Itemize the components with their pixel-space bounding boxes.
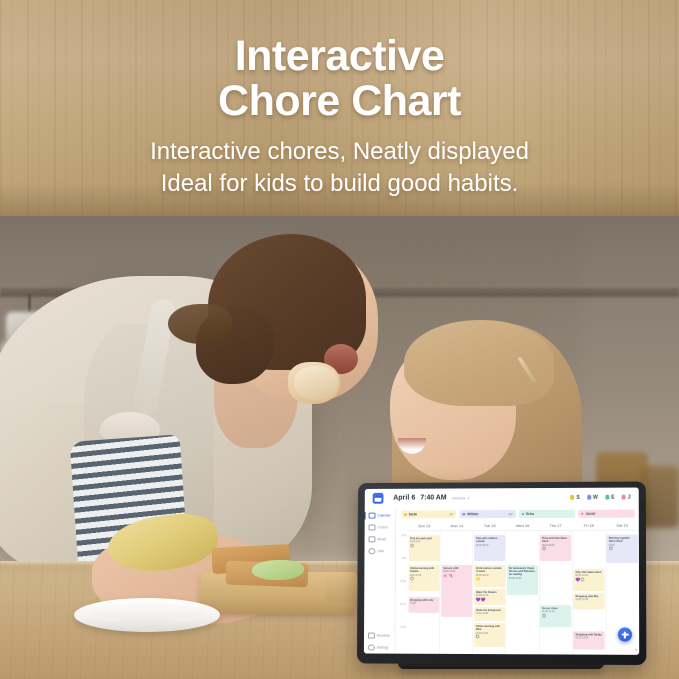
current-time: 7:40 AM bbox=[420, 494, 446, 501]
member-dot-icon bbox=[622, 495, 626, 499]
day-column[interactable]: Pizza and time taken wash08:00 09:00😊Soc… bbox=[540, 531, 573, 655]
member-chip-name: Echo bbox=[526, 512, 534, 516]
day-header[interactable]: Mon 14 bbox=[440, 523, 473, 528]
event-time: 11:00 12:00 bbox=[542, 611, 570, 614]
day-column[interactable]: Play with children outside08:00 09:00Dri… bbox=[473, 531, 506, 654]
kitchen-hook bbox=[28, 294, 31, 312]
calendar-event[interactable]: Online learning with Sophie9:00 10:00😊 bbox=[408, 565, 439, 591]
app-body: Calendar Chores Meals Lists bbox=[364, 507, 639, 655]
member-avatar-s[interactable]: S bbox=[570, 494, 580, 500]
day-column[interactable]: Pick the park yard8:00 9:00😊Online learn… bbox=[407, 531, 440, 654]
page-title-line-2: Chore Chart bbox=[0, 79, 679, 124]
member-dot-icon bbox=[581, 512, 584, 515]
day-header-row: Sun 13 Mon 14 Tue 15 Wed 16 Thu 17 Fri 1… bbox=[396, 520, 639, 531]
event-emoji-icon: 😊 bbox=[476, 635, 503, 639]
sidebar-item-lists[interactable]: Lists bbox=[364, 545, 395, 557]
app-sidebar: Calendar Chores Meals Lists bbox=[364, 508, 396, 654]
sidebar-item-rewards[interactable]: Rewards bbox=[364, 630, 395, 642]
event-time: 12:00 13:00 bbox=[575, 637, 603, 640]
calendar-event[interactable]: Play with children outside08:00 09:00 bbox=[474, 535, 505, 561]
event-emoji-icon: 💜😊 bbox=[575, 578, 603, 582]
sidebar-item-label: Meals bbox=[377, 537, 386, 541]
event-time: 08:00 09:00 bbox=[476, 544, 503, 547]
event-emoji-icon: 😊 bbox=[542, 547, 569, 551]
calendar-event[interactable]: Shopping with Elle10:00 10:30 bbox=[574, 593, 605, 609]
scroll-indicator[interactable] bbox=[636, 649, 638, 651]
member-dot-icon bbox=[587, 495, 591, 499]
time-label: 12:00 bbox=[400, 626, 406, 629]
member-initial: E bbox=[611, 494, 614, 500]
day-header[interactable]: Fri 18 bbox=[572, 522, 605, 527]
event-title: Shopping with Elle bbox=[575, 595, 603, 598]
day-header[interactable]: Thu 17 bbox=[539, 522, 572, 527]
calendar-event[interactable]: Shopping with Daddy12:00 13:00 bbox=[574, 631, 605, 649]
calendar-event[interactable]: Pick the park yard8:00 9:00😊 bbox=[408, 535, 439, 561]
event-title: Water the flowers bbox=[476, 591, 503, 594]
day-column[interactable]: Tidy shirt taken wash09:30 10:00💜😊Shoppi… bbox=[573, 531, 607, 655]
event-title: Morning together taken wash bbox=[609, 536, 637, 542]
header-banner: Interactive Chore Chart Interactive chor… bbox=[0, 0, 679, 216]
app-toolbar: April 6 7:40 AM Schedule ▾ S W bbox=[365, 488, 639, 508]
subtitle-line-2: Ideal for kids to build good habits. bbox=[0, 168, 679, 200]
sidebar-item-chores[interactable]: Chores bbox=[365, 521, 396, 533]
calendar-event[interactable]: Tidy shirt taken wash09:30 10:00💜😊 bbox=[574, 569, 605, 591]
event-emoji-icon: 🌟 bbox=[476, 577, 503, 581]
event-time: 10:30 11:00 bbox=[476, 612, 503, 615]
lettuce bbox=[252, 560, 304, 580]
sidebar-spacer bbox=[364, 557, 395, 630]
member-chip-name: Jacob bbox=[586, 512, 596, 516]
member-chip-row: Stella 9/7 William 3/2 Echo bbox=[396, 507, 639, 521]
event-title: Soccer class bbox=[542, 607, 570, 610]
event-title: Do homework: Clean Chores and Windows, d… bbox=[509, 567, 536, 577]
event-title: Play with children outside bbox=[476, 537, 503, 543]
event-title: Tidy shirt taken wash bbox=[575, 571, 603, 574]
member-chip-stella[interactable]: Stella 9/7 bbox=[401, 510, 457, 518]
sidebar-item-label: Rewards bbox=[377, 634, 390, 638]
member-dot-icon bbox=[605, 495, 609, 499]
event-emoji-icon: 😊 bbox=[410, 544, 437, 548]
time-gutter: 8:009:0010:0011:0012:00 bbox=[395, 530, 407, 653]
calendar-grid: 8:009:0010:0011:0012:00 Pick the park ya… bbox=[395, 530, 639, 655]
event-time: 09:00 10:00 bbox=[509, 577, 536, 580]
member-dot-icon bbox=[570, 495, 574, 499]
event-title: Pizza and time taken wash bbox=[542, 537, 569, 543]
calendar-event[interactable]: Morning together taken wash08:00😊 bbox=[607, 535, 638, 563]
schedule-label[interactable]: Schedule bbox=[452, 496, 466, 500]
sidebar-item-meals[interactable]: Meals bbox=[365, 533, 396, 545]
calendar-event[interactable]: Shopping with Lulu10:30 bbox=[408, 597, 439, 613]
time-label: 9:00 bbox=[401, 557, 406, 560]
plate-inner bbox=[90, 601, 204, 621]
member-chip-name: William bbox=[467, 512, 478, 516]
calendar-event[interactable]: Nursery shift09:00 11:00🌸🦄 bbox=[441, 565, 472, 617]
tablet-device: April 6 7:40 AM Schedule ▾ S W bbox=[357, 481, 646, 665]
calendar-icon bbox=[369, 512, 376, 519]
sidebar-item-settings[interactable]: Settings bbox=[364, 642, 395, 654]
calendar-event[interactable]: Soccer class11:00 12:00😊 bbox=[540, 605, 571, 627]
member-avatar-j[interactable]: J bbox=[622, 494, 631, 500]
star-icon bbox=[368, 632, 375, 639]
day-header[interactable]: Tue 15 bbox=[473, 523, 506, 528]
subtitle-line-1: Interactive chores, Neatly displayed bbox=[0, 136, 679, 168]
member-dot-icon bbox=[404, 513, 407, 516]
time-label: 11:00 bbox=[400, 603, 406, 606]
event-title: Clean the livingroom bbox=[476, 609, 503, 612]
member-chip-jacob[interactable]: Jacob bbox=[578, 510, 635, 518]
event-title: Shopping with Daddy bbox=[575, 633, 603, 636]
event-title: Nursery shift bbox=[443, 567, 470, 570]
checklist-icon bbox=[369, 524, 376, 531]
bread-in-hand bbox=[294, 366, 338, 400]
event-emoji-icon: 😊 bbox=[609, 547, 637, 551]
event-time: 10:30 bbox=[410, 602, 437, 605]
member-avatar-e[interactable]: E bbox=[605, 494, 615, 500]
time-label: 10:00 bbox=[400, 580, 406, 583]
member-avatar-w[interactable]: W bbox=[587, 494, 598, 500]
calendar-event[interactable]: Pizza and time taken wash08:00 09:00😊 bbox=[540, 535, 571, 561]
event-title: Pick the park yard bbox=[410, 537, 437, 540]
event-title: Drink salmon outside of wash bbox=[476, 567, 503, 573]
tablet-screen: April 6 7:40 AM Schedule ▾ S W bbox=[364, 488, 639, 655]
calendar-main: Stella 9/7 William 3/2 Echo bbox=[395, 507, 639, 655]
day-column[interactable]: Do homework: Clean Chores and Windows, d… bbox=[506, 531, 539, 654]
member-chip-william[interactable]: William 3/2 bbox=[460, 510, 516, 518]
poster-canvas: Interactive Chore Chart Interactive chor… bbox=[0, 0, 679, 679]
calendar-event[interactable]: Water the flowers10:00 10:30💜💜 bbox=[474, 589, 505, 605]
plate-icon bbox=[368, 536, 375, 543]
event-title: Online learning with Mina bbox=[476, 625, 503, 632]
event-time: 08:00 09:00 bbox=[542, 544, 569, 547]
time-label: 8:00 bbox=[401, 534, 406, 537]
member-chip-count: 3/2 bbox=[508, 512, 512, 516]
event-emoji-icon: 😊 bbox=[410, 577, 437, 581]
list-icon bbox=[368, 548, 375, 555]
day-header[interactable]: Sat 19 bbox=[605, 522, 638, 527]
current-date: April 6 bbox=[393, 495, 415, 502]
gear-icon bbox=[368, 644, 375, 651]
day-column[interactable]: Nursery shift09:00 11:00🌸🦄 bbox=[440, 531, 473, 654]
sidebar-item-label: Calendar bbox=[377, 514, 390, 518]
chevron-down-icon[interactable]: ▾ bbox=[468, 496, 470, 500]
calendar-event[interactable]: Do homework: Clean Chores and Windows, d… bbox=[507, 565, 538, 595]
mother-ponytail bbox=[168, 304, 232, 344]
day-header[interactable]: Wed 16 bbox=[506, 523, 539, 528]
calendar-app-icon[interactable] bbox=[373, 493, 384, 504]
member-dot-icon bbox=[463, 513, 466, 516]
member-initial: J bbox=[628, 494, 631, 500]
sidebar-item-calendar[interactable]: Calendar bbox=[365, 510, 395, 522]
event-time: 08:00 bbox=[609, 543, 637, 546]
event-emoji-icon: 😊 bbox=[542, 614, 570, 618]
event-title: Shopping with Lulu bbox=[410, 599, 437, 602]
day-columns: Pick the park yard8:00 9:00😊Online learn… bbox=[407, 530, 639, 655]
event-emoji-icon: 🌸🦄 bbox=[443, 574, 470, 578]
page-title-line-1: Interactive bbox=[0, 34, 679, 79]
calendar-event[interactable]: Online learning with Mina11:00 12:00😊 bbox=[474, 623, 505, 647]
event-title: Online learning with Sophie bbox=[410, 567, 437, 573]
day-header[interactable]: Sun 13 bbox=[408, 523, 441, 528]
event-emoji-icon: 💜💜 bbox=[476, 598, 503, 602]
member-initial: W bbox=[593, 494, 598, 500]
member-chip-echo[interactable]: Echo bbox=[519, 510, 575, 518]
member-dot-icon bbox=[522, 513, 525, 516]
member-avatars: S W E J bbox=[570, 494, 630, 500]
member-chip-count: 9/7 bbox=[450, 512, 454, 516]
calendar-event[interactable]: Clean the livingroom10:30 11:00 bbox=[474, 607, 505, 621]
sidebar-item-label: Lists bbox=[377, 549, 384, 553]
sidebar-item-label: Chores bbox=[377, 525, 387, 529]
calendar-event[interactable]: Drink salmon outside of wash09:00 10:00🌟 bbox=[474, 565, 505, 587]
member-chip-name: Stella bbox=[409, 512, 418, 516]
add-event-button[interactable] bbox=[618, 627, 632, 641]
daughter-fringe bbox=[404, 320, 554, 406]
sidebar-item-label: Settings bbox=[377, 646, 389, 650]
member-initial: S bbox=[576, 494, 579, 500]
event-time: 10:00 10:30 bbox=[575, 599, 603, 602]
chore-chart-app: April 6 7:40 AM Schedule ▾ S W bbox=[364, 488, 639, 655]
